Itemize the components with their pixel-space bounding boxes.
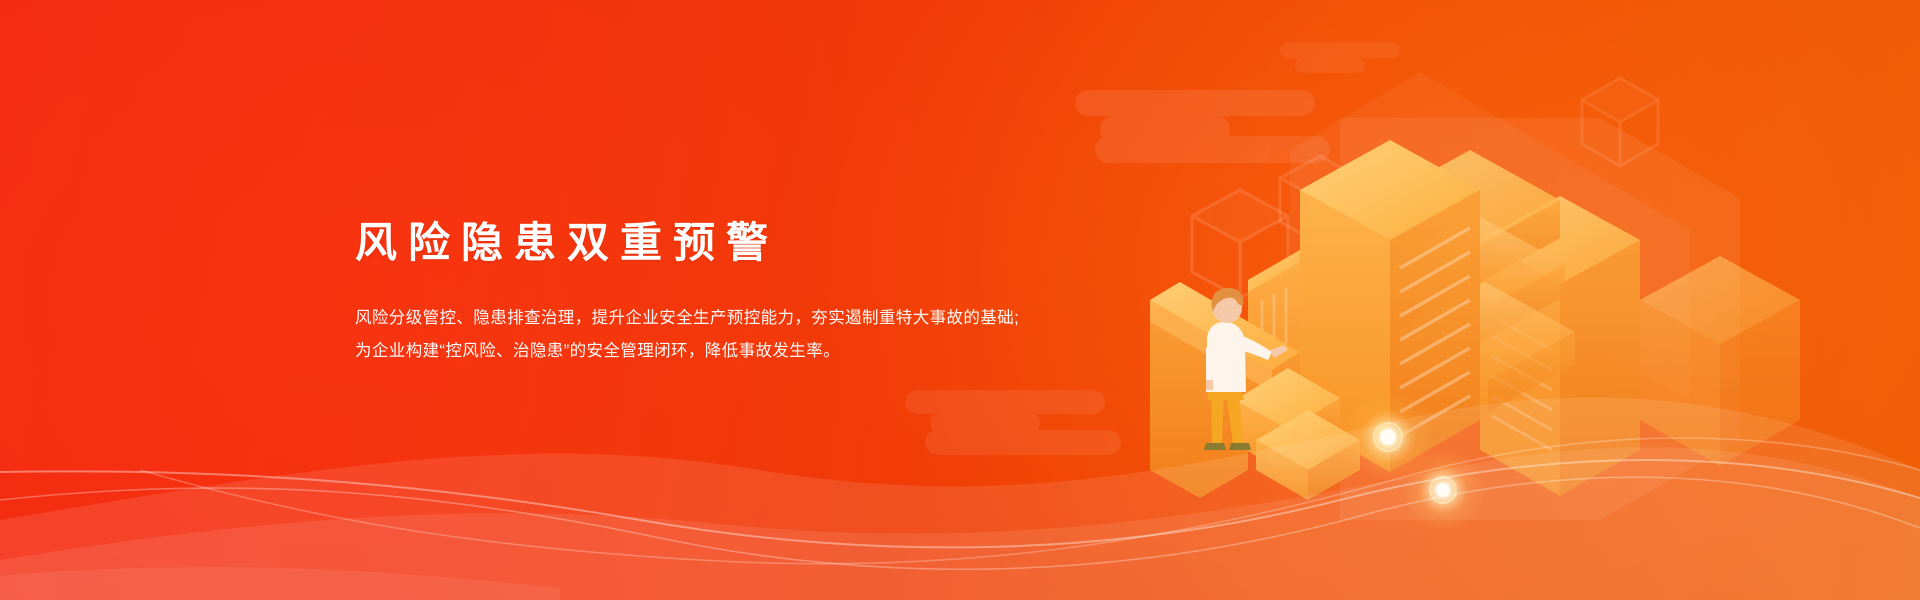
- glow-dot-icon: [1401, 448, 1485, 532]
- stacked-slabs: [1380, 150, 1575, 412]
- tower-back-right: [1480, 196, 1640, 496]
- wave-curve-icon: [0, 397, 1920, 600]
- banner-subtitle-line-2: 为企业构建“控风险、治隐患”的安全管理闭环，降低事故发生率。: [355, 335, 1175, 368]
- block-far-right: [1640, 256, 1800, 466]
- glow-dot-icon: [1342, 391, 1434, 483]
- box-cluster: [1235, 368, 1360, 500]
- column-left: [1248, 250, 1300, 430]
- cloud-bar-icon: [905, 390, 1121, 455]
- hexagon-cube-icon: [1582, 78, 1658, 166]
- isometric-ghost-shape: [1340, 118, 1740, 520]
- hexagon-cube-icon: [1280, 156, 1360, 244]
- banner-subtitle-line-1: 风险分级管控、隐患排查治理，提升企业安全生产预控能力，夯实遏制重特大事故的基础;: [355, 302, 1175, 335]
- banner-text-block: 风险隐患双重预警 风险分级管控、隐患排查治理，提升企业安全生产预控能力，夯实遏制…: [355, 218, 1175, 368]
- banner-subtitle-group: 风险分级管控、隐患排查治理，提升企业安全生产预控能力，夯实遏制重特大事故的基础;…: [355, 302, 1175, 368]
- cloud-bar-icon: [1075, 90, 1330, 163]
- hero-banner: 风险隐患双重预警 风险分级管控、隐患排查治理，提升企业安全生产预控能力，夯实遏制…: [0, 0, 1920, 600]
- isometric-cube-icon: [1192, 190, 1288, 298]
- page-title: 风险隐患双重预警: [355, 218, 1175, 268]
- tower-front-left: [1300, 140, 1480, 472]
- cloud-bar-icon: [1280, 42, 1400, 73]
